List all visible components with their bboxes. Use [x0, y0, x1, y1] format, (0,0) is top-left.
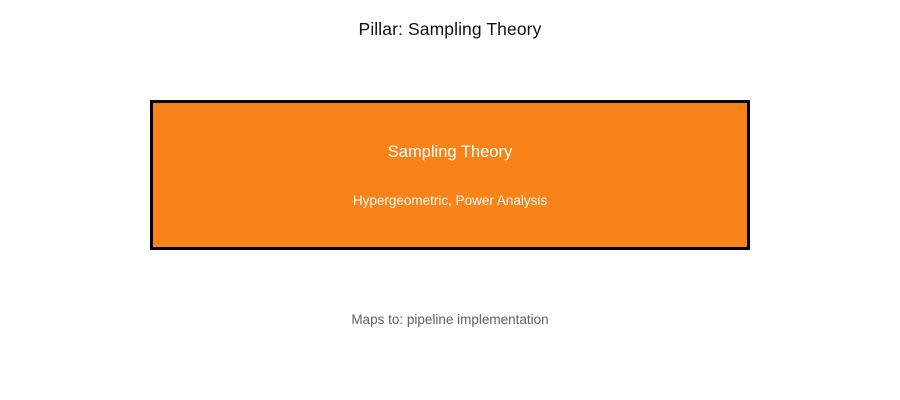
pillar-box-label: Sampling Theory: [388, 143, 512, 162]
diagram-canvas: Pillar: Sampling Theory Sampling Theory …: [0, 0, 900, 400]
pillar-box-subtitle: Hypergeometric, Power Analysis: [353, 193, 547, 208]
maps-to-note: Maps to: pipeline implementation: [0, 312, 900, 327]
pillar-box[interactable]: Sampling Theory Hypergeometric, Power An…: [150, 100, 750, 250]
page-title: Pillar: Sampling Theory: [0, 19, 900, 40]
